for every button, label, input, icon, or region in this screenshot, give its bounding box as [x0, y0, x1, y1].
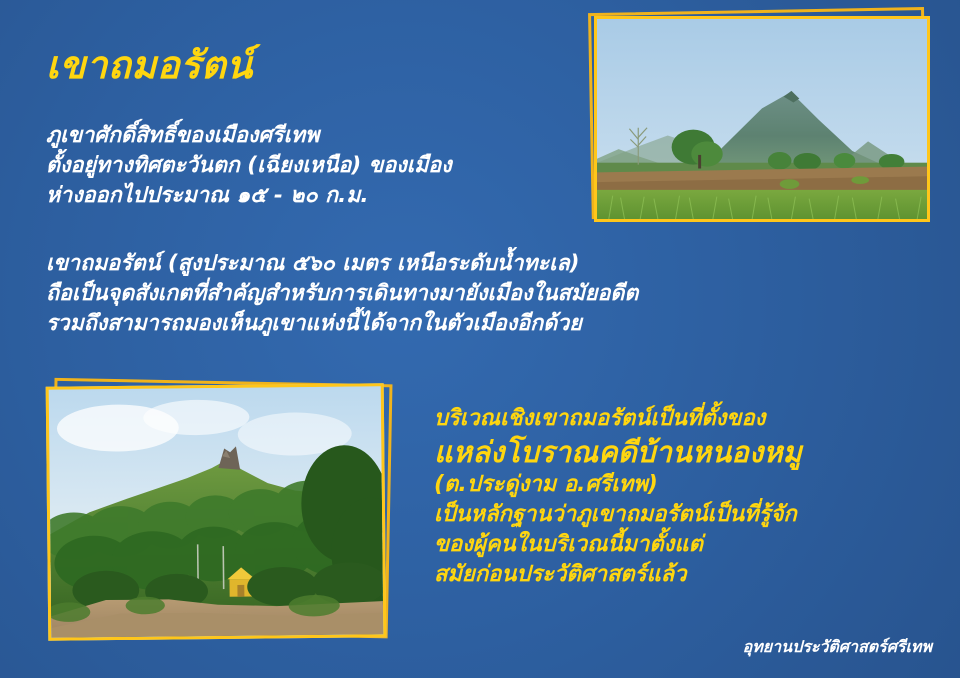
footer-credit: อุทยานประวัติศาสตร์ศรีเทพ	[743, 635, 932, 660]
elevation-paragraph: เขาถมอรัตน์ (สูงประมาณ ๕๖๐ เมตร เหนือระด…	[46, 249, 638, 339]
photo-image-forest-hill	[46, 383, 387, 641]
slide-canvas: เขาถมอรัตน์ ภูเขาศักดิ์สิทธิ์ของเมืองศรี…	[0, 0, 960, 678]
archaeology-site-name: แหล่งโบราณคดีบ้านหนองหมู	[434, 434, 934, 470]
archaeology-line-1: บริเวณเชิงเขาถมอรัตน์เป็นที่ตั้งของ	[434, 404, 934, 434]
archaeology-line-6: สมัยก่อนประวัติศาสตร์แล้ว	[434, 560, 934, 590]
photo-image-mountain-field	[594, 16, 930, 222]
forest-hill-photo	[47, 385, 385, 639]
archaeology-text-block: บริเวณเชิงเขาถมอรัตน์เป็นที่ตั้งของ แหล่…	[434, 404, 934, 590]
archaeology-line-4: เป็นหลักฐานว่าภูเขาถมอรัตน์เป็นที่รู้จัก	[434, 500, 934, 530]
intro-paragraph: ภูเขาศักดิ์สิทธิ์ของเมืองศรีเทพ ตั้งอยู่…	[46, 121, 452, 211]
archaeology-line-5: ของผู้คนในบริเวณนี้มาตั้งแต่	[434, 530, 934, 560]
page-title: เขาถมอรัตน์	[46, 44, 253, 88]
mountain-field-photo	[594, 16, 930, 222]
archaeology-location: (ต.ประดู่งาม อ.ศรีเทพ)	[434, 470, 934, 500]
